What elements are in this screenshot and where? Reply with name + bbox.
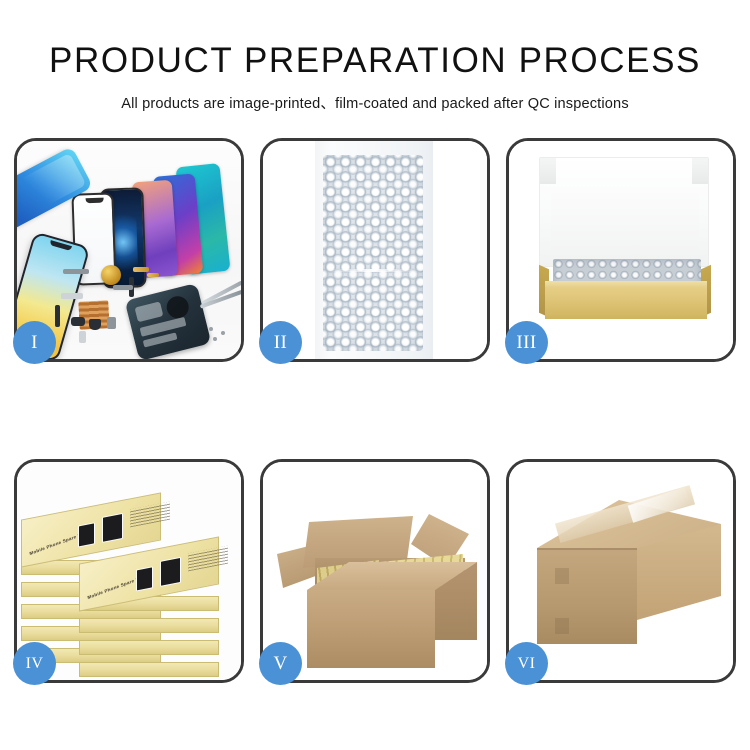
step-image-6 <box>509 462 733 680</box>
step-image-4: Mobile Phone Spare Parts Mobile Phone Sp… <box>17 462 241 680</box>
flex-cable-icon <box>63 269 89 274</box>
carton-front-panel-icon <box>307 590 435 668</box>
box-front-panel-icon <box>545 287 707 319</box>
foam-insert-icon <box>551 189 699 259</box>
antenna-flex-icon <box>113 285 133 290</box>
sim-tray-icon <box>79 331 86 343</box>
step-image-2 <box>263 141 487 359</box>
step-panel-1: I <box>14 138 244 362</box>
camera-flex-icon <box>61 293 83 299</box>
step-panel-6: VI <box>506 459 736 683</box>
side-flex-icon <box>55 305 60 327</box>
steps-grid: I II III <box>14 138 736 683</box>
page-title: PRODUCT PREPARATION PROCESS <box>0 43 750 78</box>
step-image-3 <box>509 141 733 359</box>
speaker-module-icon <box>101 265 121 285</box>
step-panel-4: Mobile Phone Spare Parts Mobile Phone Sp… <box>14 459 244 683</box>
step-panel-2: II <box>260 138 490 362</box>
page-subtitle: All products are image-printed、film-coat… <box>0 92 750 113</box>
step-badge-1: I <box>13 321 56 364</box>
step-badge-6: VI <box>505 642 548 685</box>
screw-icon <box>213 337 217 341</box>
loudspeaker-icon <box>107 317 116 329</box>
gold-contact-2-icon <box>147 273 159 277</box>
step-badge-3: III <box>505 321 548 364</box>
step-image-5 <box>263 462 487 680</box>
gold-contact-icon <box>133 267 149 272</box>
bubble-wrap-icon <box>323 155 423 351</box>
screw-3-icon <box>209 327 213 331</box>
step-badge-4: IV <box>13 642 56 685</box>
carton-seam-icon <box>537 548 637 550</box>
retail-box-icon <box>79 640 219 655</box>
step-badge-2: II <box>259 321 302 364</box>
box-artwork-screen-2-icon <box>102 513 123 543</box>
taptic-engine-icon <box>89 319 101 330</box>
vibrator-motor-icon <box>71 317 85 326</box>
carton-tab-lower-icon <box>555 618 569 634</box>
carton-tab-upper-icon <box>555 568 569 584</box>
carton-front-panel-icon <box>537 548 637 644</box>
product-preparation-infographic: PRODUCT PREPARATION PROCESS All products… <box>0 0 750 750</box>
screw-2-icon <box>221 331 225 335</box>
step-badge-5: V <box>259 642 302 685</box>
retail-box-icon <box>79 662 219 677</box>
box-artwork-screen-icon <box>136 566 153 591</box>
step-image-1 <box>17 141 241 359</box>
box-artwork-screen-2-icon <box>160 557 181 587</box>
step-panel-5: V <box>260 459 490 683</box>
bubble-wrap-seam-icon <box>323 269 423 272</box>
box-artwork-screen-icon <box>78 522 95 547</box>
step-panel-3: III <box>506 138 736 362</box>
retail-box-icon <box>79 618 219 633</box>
header: PRODUCT PREPARATION PROCESS All products… <box>0 0 750 113</box>
